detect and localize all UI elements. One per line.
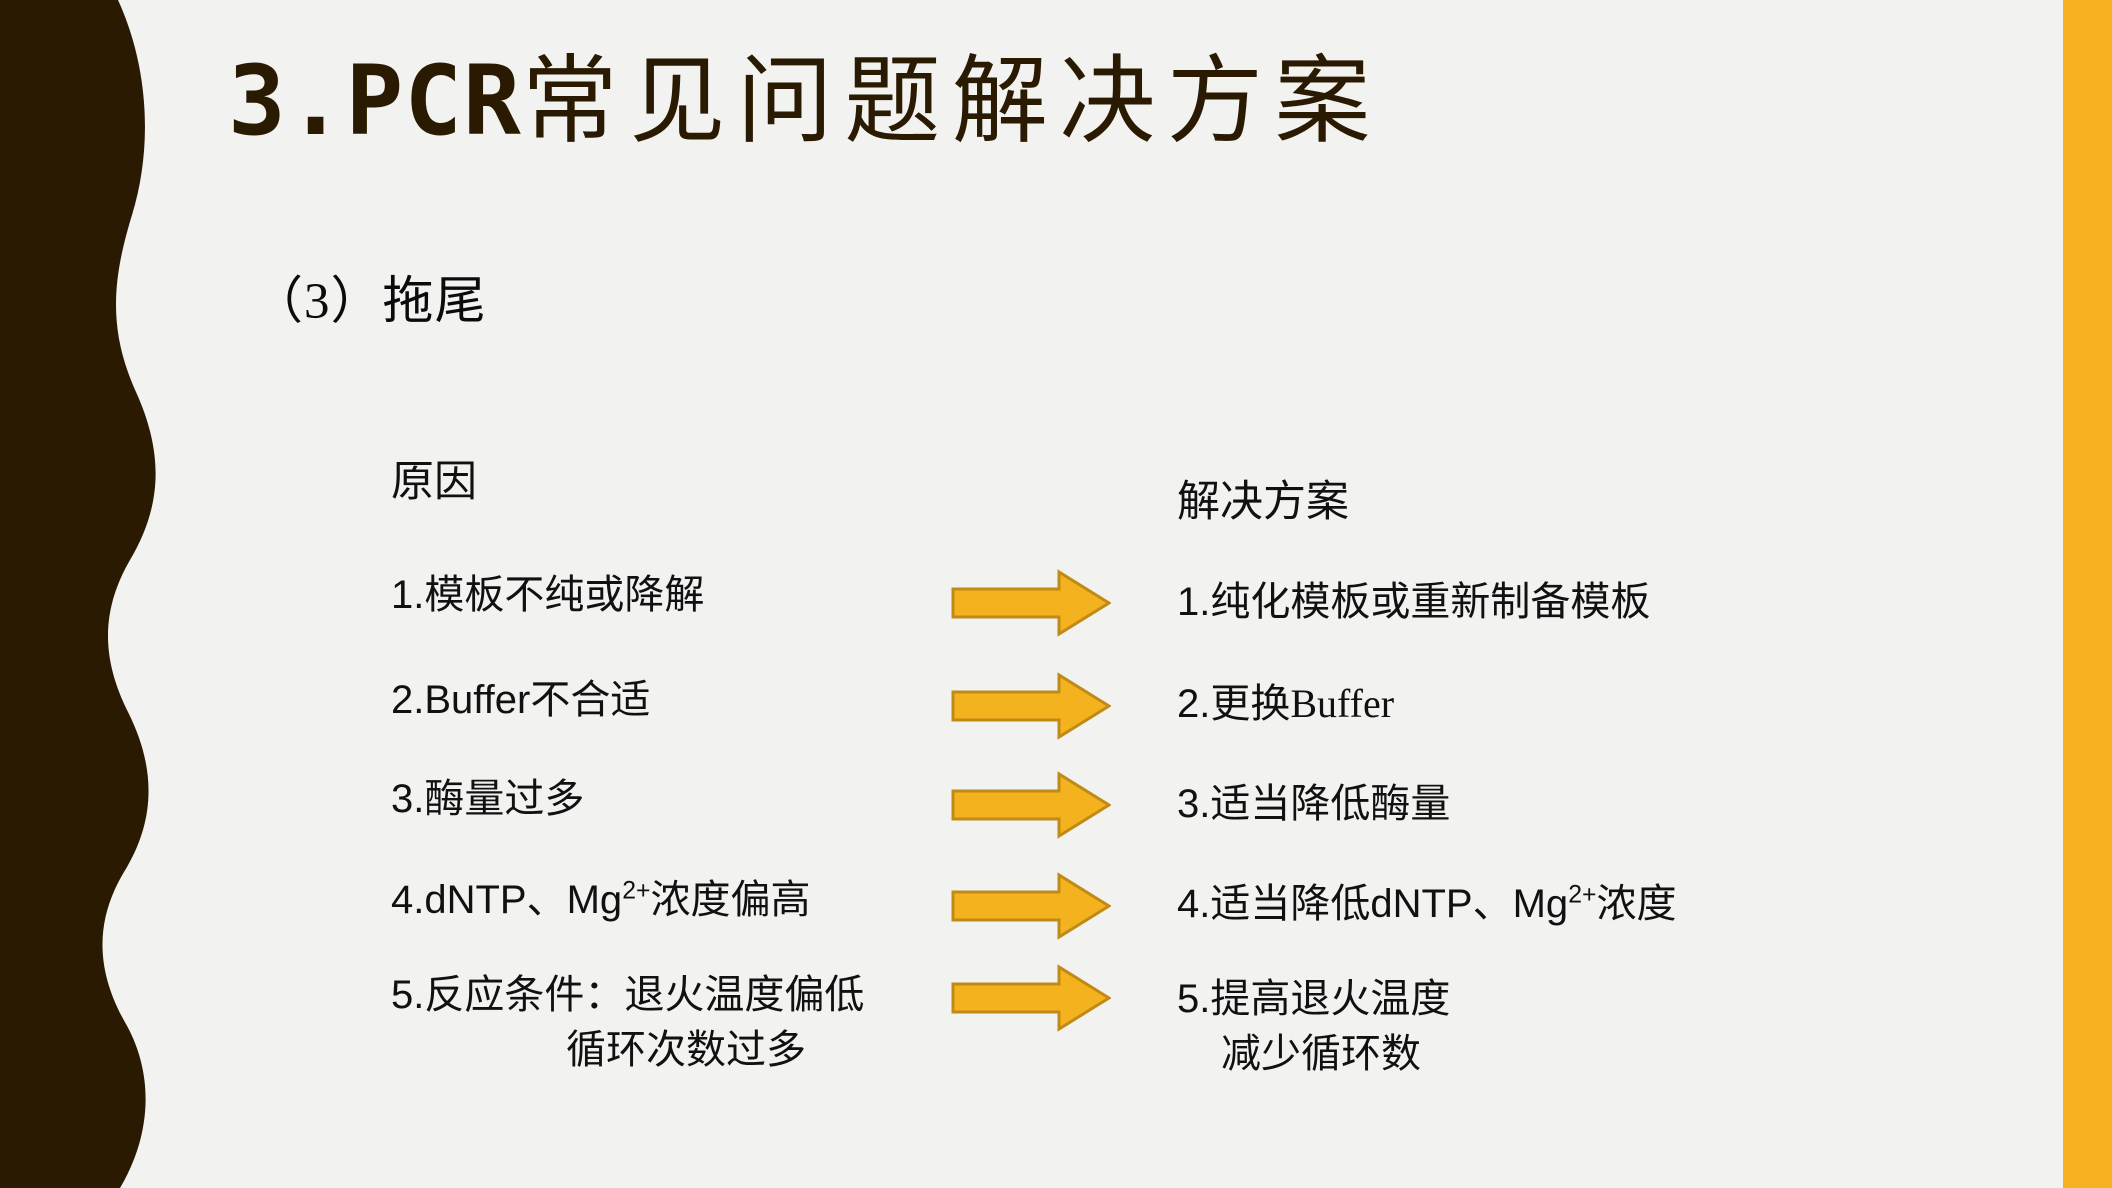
column-header-cause: 原因 [391, 461, 477, 504]
solution-row-5-index: 5. [1177, 977, 1210, 1021]
solution-row-4-charge: 2+ [1568, 882, 1596, 909]
solution-row-4-text-a: 适当降低 [1210, 881, 1370, 926]
cause-row-1-index: 1. [391, 573, 424, 617]
solution-row-4: 4.适当降低dNTP、Mg2+浓度 [1177, 877, 1676, 932]
solution-row-5: 5.提高退火温度 减少循环数 [1177, 972, 1450, 1080]
cause-row-3-index: 3. [391, 777, 424, 821]
right-arrow-icon [951, 964, 1111, 1032]
solution-row-4-text-d: 浓度 [1596, 881, 1676, 926]
cause-row-3-text: 酶量过多 [424, 776, 584, 821]
cause-row-5-index: 5. [391, 973, 424, 1017]
cause-row-4-index: 4. [391, 878, 424, 922]
right-arrow-icon [951, 672, 1111, 740]
cause-row-2-index: 2. [391, 678, 424, 722]
solution-row-2-text: 更换Buffer [1210, 681, 1394, 726]
solution-row-5-text-line2: 减少循环数 [1177, 1027, 1450, 1081]
solution-row-3-text: 适当降低酶量 [1210, 781, 1450, 826]
solution-row-3-index: 3. [1177, 782, 1210, 826]
cause-row-4: 4.dNTP、Mg2+浓度偏高 [391, 873, 810, 928]
right-arrow-icon [951, 569, 1111, 637]
column-header-solution: 解决方案 [1177, 481, 1349, 524]
solution-row-4-sep: 、 [1473, 881, 1513, 926]
solution-row-2-index: 2. [1177, 682, 1210, 726]
cause-row-4-text-a: dNTP [424, 878, 526, 922]
solution-row-4-text-c: Mg [1513, 882, 1569, 926]
solution-row-5-text: 提高退火温度 [1210, 976, 1450, 1021]
cause-solution-matrix: 原因 解决方案 1.模板不纯或降解 1.纯化模板或重新制备模板 2.Buffer… [0, 0, 2112, 1188]
cause-row-4-charge: 2+ [622, 878, 650, 905]
cause-row-2-text: Buffer不合适 [424, 678, 650, 722]
cause-row-4-text-c: 浓度偏高 [650, 877, 810, 922]
cause-row-3: 3.酶量过多 [391, 772, 584, 827]
cause-row-1: 1.模板不纯或降解 [391, 568, 704, 623]
solution-row-1-text: 纯化模板或重新制备模板 [1210, 579, 1650, 624]
cause-row-5-text-line2: 循环次数过多 [391, 1023, 864, 1077]
cause-row-5-text: 反应条件：退火温度偏低 [424, 972, 864, 1017]
solution-row-3: 3.适当降低酶量 [1177, 777, 1450, 832]
slide-canvas: 3.PCR常见问题解决方案 （3）拖尾 原因 解决方案 1.模板不纯或降解 1.… [0, 0, 2112, 1188]
cause-row-1-text: 模板不纯或降解 [424, 572, 704, 617]
cause-row-4-text-b: Mg [567, 878, 623, 922]
cause-row-4-sep: 、 [527, 877, 567, 922]
solution-row-4-index: 4. [1177, 882, 1210, 926]
solution-row-2: 2.更换Buffer [1177, 677, 1394, 732]
right-arrow-icon [951, 771, 1111, 839]
solution-row-4-text-b: dNTP [1370, 882, 1472, 926]
right-arrow-icon [951, 872, 1111, 940]
solution-row-1-index: 1. [1177, 580, 1210, 624]
cause-row-5: 5.反应条件：退火温度偏低 循环次数过多 [391, 968, 864, 1076]
solution-row-1: 1.纯化模板或重新制备模板 [1177, 575, 1650, 630]
cause-row-2: 2.Buffer不合适 [391, 673, 650, 728]
